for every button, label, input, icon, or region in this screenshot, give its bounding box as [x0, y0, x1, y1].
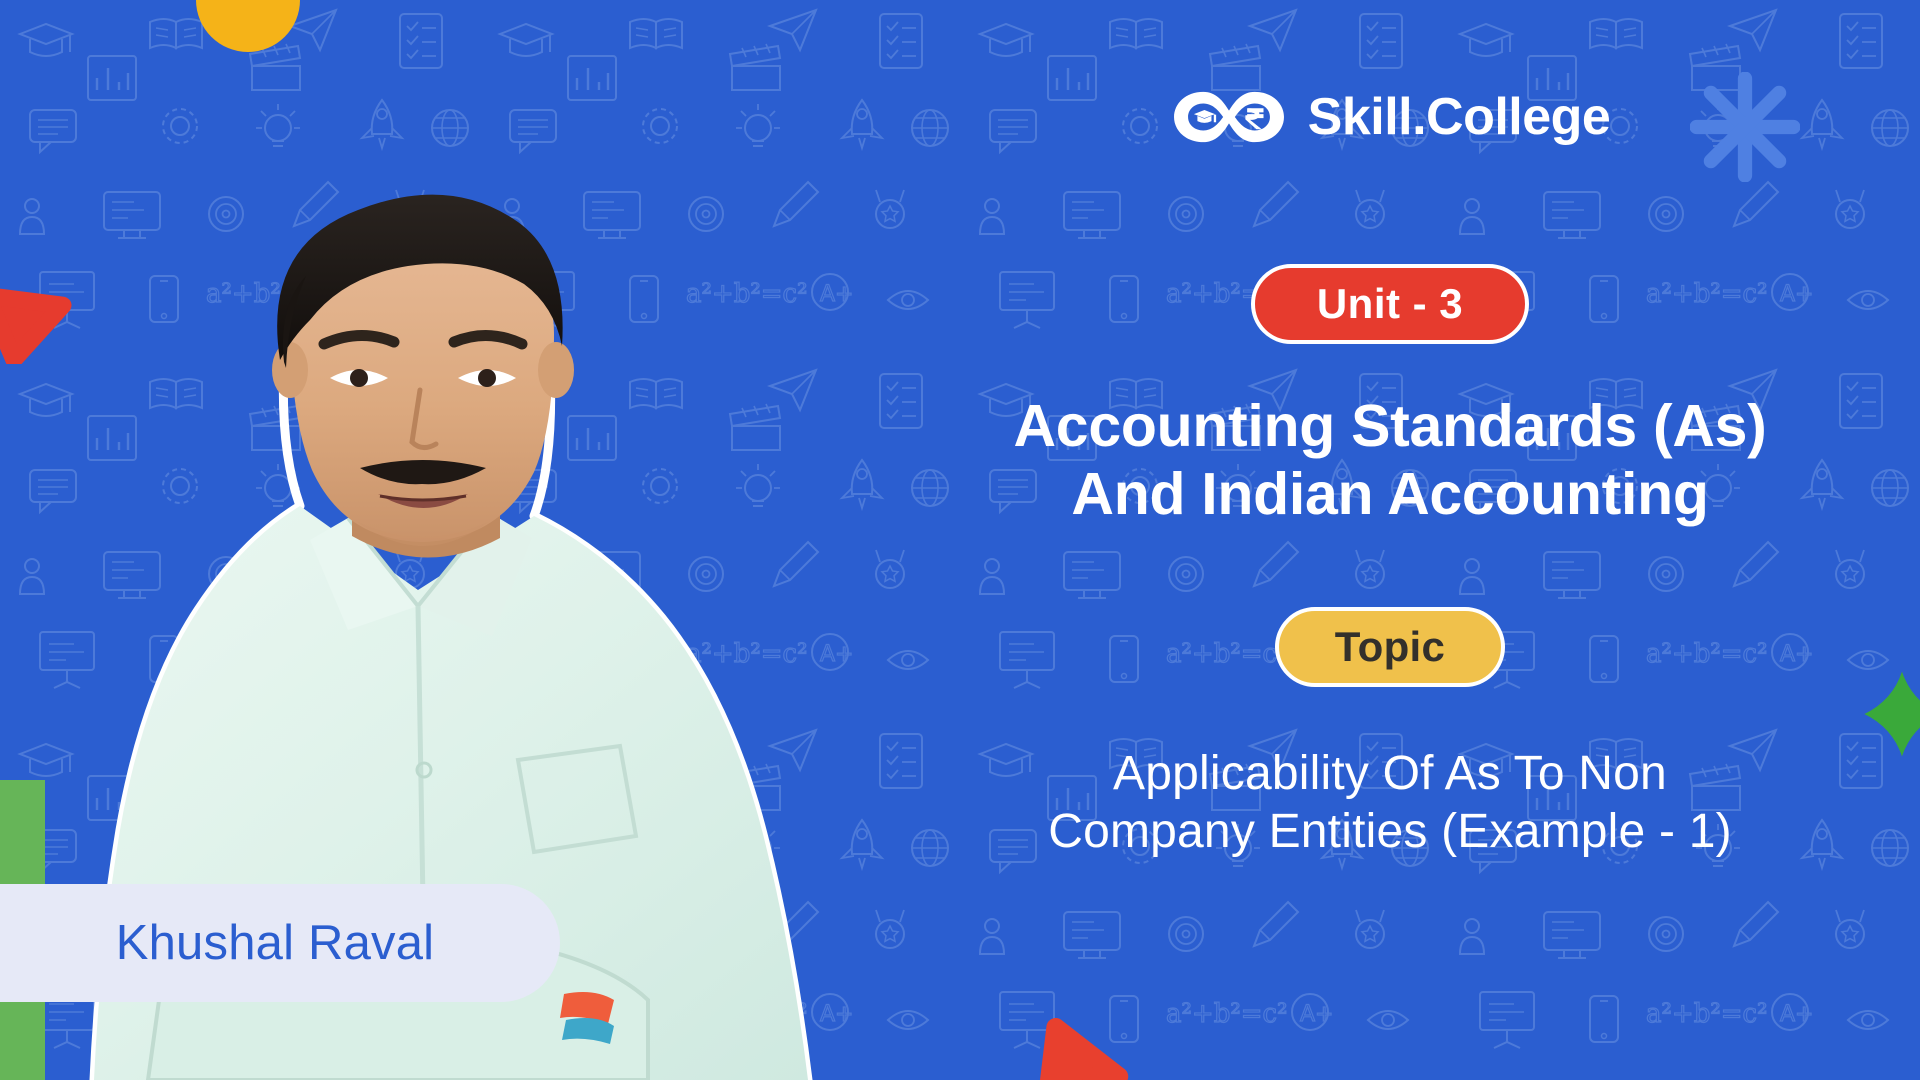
- unit-badge-label: Unit - 3: [1317, 280, 1463, 328]
- topic-badge-label: Topic: [1335, 623, 1445, 671]
- presenter-name-banner: Khushal Raval: [0, 884, 560, 1002]
- topic-badge: Topic: [1275, 607, 1505, 687]
- brand-logo[interactable]: Skill.College: [1170, 86, 1611, 148]
- main-title: Accounting Standards (As) And Indian Acc…: [1014, 392, 1767, 529]
- topic-subtitle: Applicability Of As To Non Company Entit…: [1048, 745, 1732, 862]
- main-title-line-1: Accounting Standards (As): [1014, 392, 1767, 460]
- topic-subtitle-line-2: Company Entities (Example - 1): [1048, 803, 1732, 862]
- content-column: Skill.College Unit - 3 Accounting Standa…: [860, 0, 1920, 1080]
- main-title-line-2: And Indian Accounting: [1014, 460, 1767, 528]
- topic-subtitle-line-1: Applicability Of As To Non: [1048, 745, 1732, 804]
- infinity-graduation-rupee-icon: [1170, 86, 1288, 148]
- unit-badge: Unit - 3: [1251, 264, 1529, 344]
- presenter-name-text: Khushal Raval: [116, 915, 435, 971]
- yellow-circle-decoration: [196, 0, 300, 52]
- brand-name-text: Skill.College: [1308, 87, 1611, 147]
- thumbnail-canvas: a²+b²=c² A+: [0, 0, 1920, 1080]
